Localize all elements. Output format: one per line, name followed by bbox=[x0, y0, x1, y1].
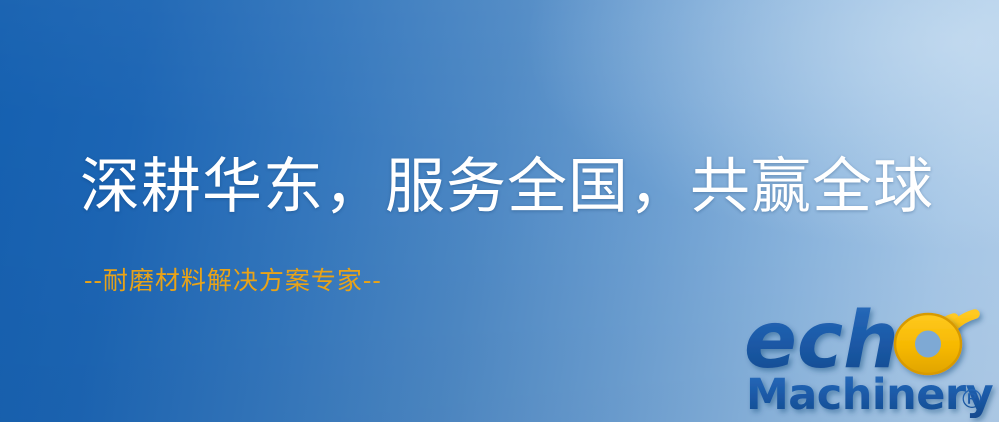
logo-wordmark-o bbox=[895, 314, 961, 374]
logo-tagline: Machinery ® bbox=[746, 370, 994, 420]
logo-tagline-text: Machinery bbox=[746, 370, 994, 420]
banner-headline: 深耕华东，服务全国，共赢全球 bbox=[80, 152, 934, 222]
echo-machinery-logo: ech Machinery ® bbox=[744, 296, 999, 422]
registered-trademark-icon: ® bbox=[959, 385, 985, 415]
promo-banner: 深耕华东，服务全国，共赢全球 --耐磨材料解决方案专家-- bbox=[0, 0, 999, 422]
banner-subtitle: --耐磨材料解决方案专家-- bbox=[84, 266, 382, 296]
